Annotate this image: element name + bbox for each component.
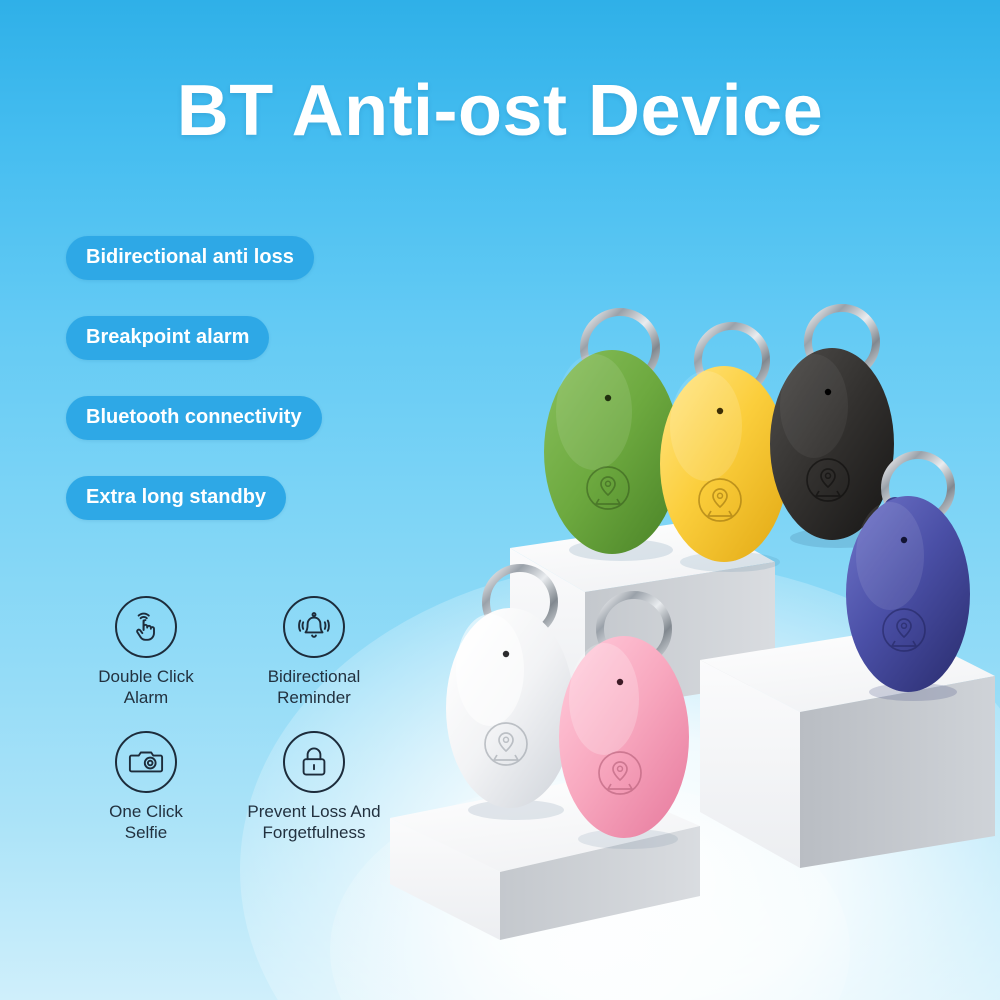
icon-feature-grid: Double Click Alarm bbox=[62, 596, 398, 866]
icon-feature-label: One Click Selfie bbox=[62, 801, 230, 844]
icon-feature-row-1: Double Click Alarm bbox=[62, 596, 398, 709]
tap-hand-icon bbox=[115, 596, 177, 658]
icon-feature-bidirectional-reminder[interactable]: Bidirectional Reminder bbox=[230, 596, 398, 709]
icon-feature-label: Prevent Loss And Forgetfulness bbox=[230, 801, 398, 844]
icon-feature-prevent-loss[interactable]: Prevent Loss And Forgetfulness bbox=[230, 731, 398, 844]
pink-tracker[interactable] bbox=[548, 585, 708, 860]
ringing-bell-icon bbox=[283, 596, 345, 658]
icon-feature-label: Bidirectional Reminder bbox=[230, 666, 398, 709]
icon-feature-row-2: One Click Selfie Prevent Loss And Forget… bbox=[62, 731, 398, 844]
feature-pill-list: Bidirectional anti loss Breakpoint alarm… bbox=[66, 236, 396, 520]
padlock-icon bbox=[283, 731, 345, 793]
feature-pill-breakpoint-alarm[interactable]: Breakpoint alarm bbox=[66, 316, 269, 360]
product-poster: BT Anti-ost Device Bidirectional anti lo… bbox=[0, 0, 1000, 1000]
icon-feature-one-click-selfie[interactable]: One Click Selfie bbox=[62, 731, 230, 844]
icon-feature-double-click-alarm[interactable]: Double Click Alarm bbox=[62, 596, 230, 709]
feature-pill-extra-long-standby[interactable]: Extra long standby bbox=[66, 476, 286, 520]
camera-icon bbox=[115, 731, 177, 793]
blue-tracker[interactable] bbox=[838, 448, 998, 713]
feature-pill-bidirectional-anti-loss[interactable]: Bidirectional anti loss bbox=[66, 236, 314, 280]
icon-feature-label: Double Click Alarm bbox=[62, 666, 230, 709]
page-title: BT Anti-ost Device bbox=[0, 74, 1000, 150]
feature-pill-bluetooth-connectivity[interactable]: Bluetooth connectivity bbox=[66, 396, 322, 440]
